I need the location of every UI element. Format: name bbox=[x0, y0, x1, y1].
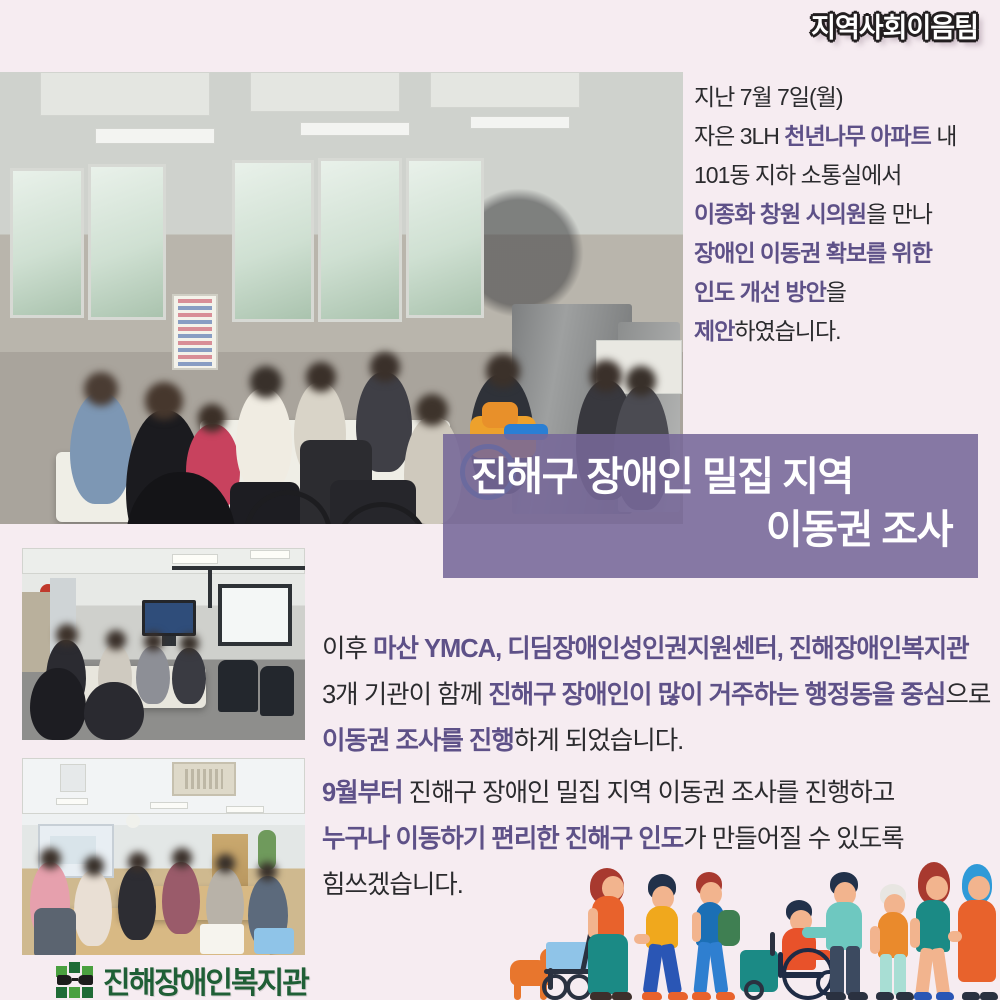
body-text: 가 만들어질 수 있도록 bbox=[683, 825, 903, 853]
emphasis-text: 누구나 이동하기 편리한 진해구 인도 bbox=[322, 825, 683, 853]
paragraph-line: 장애인 이동권 확보를 위한 bbox=[694, 234, 994, 273]
paragraph-line: 이종화 창원 시의원을 만나 bbox=[694, 195, 994, 234]
body-text: 하였습니다. bbox=[734, 318, 840, 344]
logo-text: 진해장애인복지관 bbox=[103, 958, 308, 1000]
paragraph-line: 이후 마산 YMCA, 디딤장애인성인권지원센터, 진해장애인복지관 bbox=[322, 626, 992, 672]
title-line-1: 진해구 장애인 밀집 지역 bbox=[465, 451, 956, 504]
body-text: 을 bbox=[826, 279, 846, 305]
emphasis-text: 제안 bbox=[694, 318, 734, 344]
photo-meeting-mid bbox=[22, 548, 305, 740]
emphasis-text: 장애인 이동권 확보를 위한 bbox=[694, 240, 932, 266]
emphasis-text: 천년나무 아파트 bbox=[784, 123, 931, 149]
title-line-2: 이동권 조사 bbox=[465, 504, 956, 557]
body-text: 진해구 장애인 밀집 지역 이동권 조사를 진행하고 bbox=[403, 779, 895, 807]
paragraph-line: 제안하였습니다. bbox=[694, 312, 994, 351]
body-text: 내 bbox=[931, 123, 957, 149]
team-badge: 지역사회이음팀 bbox=[811, 6, 978, 45]
paragraph-line: 자은 3LH 천년나무 아파트 내 bbox=[694, 117, 994, 156]
title-banner: 진해구 장애인 밀집 지역 이동권 조사 bbox=[443, 434, 978, 578]
paragraph-line: 9월부터 진해구 장애인 밀집 지역 이동권 조사를 진행하고 bbox=[322, 770, 992, 816]
paragraph-line: 지난 7월 7일(월) bbox=[694, 78, 994, 117]
emphasis-text: 이동권 조사를 진행 bbox=[322, 727, 514, 755]
survey-partners-paragraph: 이후 마산 YMCA, 디딤장애인성인권지원센터, 진해장애인복지관3개 기관이… bbox=[322, 626, 992, 764]
body-text: 힘쓰겠습니다. bbox=[322, 871, 463, 899]
body-text: 하게 되었습니다. bbox=[514, 727, 683, 755]
body-text: 101동 지하 소통실에서 bbox=[694, 162, 901, 188]
body-text: 자은 3LH bbox=[694, 123, 784, 149]
promo-card: 지역사회이음팀 bbox=[0, 0, 1000, 1000]
paragraph-line: 이동권 조사를 진행하게 되었습니다. bbox=[322, 718, 992, 764]
organization-logo: 진해장애인복지관 bbox=[56, 958, 308, 1000]
paragraph-line: 101동 지하 소통실에서 bbox=[694, 156, 994, 195]
body-text: 3개 기관이 함께 bbox=[322, 681, 488, 709]
emphasis-text: 이종화 창원 시의원 bbox=[694, 201, 866, 227]
emphasis-text: 인도 개선 방안 bbox=[694, 279, 826, 305]
emphasis-text: 9월부터 bbox=[322, 779, 403, 807]
body-text: 을 만나 bbox=[866, 201, 932, 227]
diverse-pedestrians-illustration bbox=[496, 862, 1000, 1000]
body-text: 이후 bbox=[322, 635, 373, 663]
emphasis-text: 진해구 장애인이 많이 거주하는 행정동을 중심 bbox=[488, 681, 945, 709]
paragraph-line: 누구나 이동하기 편리한 진해구 인도가 만들어질 수 있도록 bbox=[322, 816, 992, 862]
body-text: 지난 7월 7일(월) bbox=[694, 84, 842, 110]
body-text: 으로 bbox=[945, 681, 990, 709]
paragraph-line: 3개 기관이 함께 진해구 장애인이 많이 거주하는 행정동을 중심으로 bbox=[322, 672, 992, 718]
emphasis-text: 마산 YMCA, 디딤장애인성인권지원센터, 진해장애인복지관 bbox=[373, 635, 969, 663]
photo-meeting-low bbox=[22, 758, 305, 955]
paragraph-line: 인도 개선 방안을 bbox=[694, 273, 994, 312]
welfare-center-mark-icon bbox=[56, 962, 94, 998]
sunglasses-icon bbox=[57, 975, 93, 985]
intro-paragraph: 지난 7월 7일(월)자은 3LH 천년나무 아파트 내101동 지하 소통실에… bbox=[694, 78, 994, 351]
